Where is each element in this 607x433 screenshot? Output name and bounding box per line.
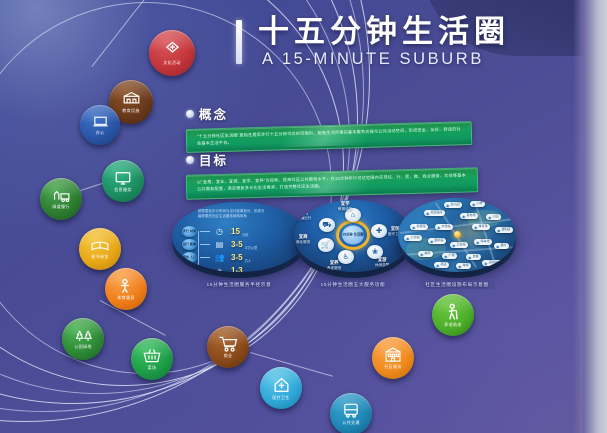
pin-label: 幼儿园 [451, 203, 460, 207]
tree-unit: 万人 [245, 258, 251, 263]
pin-label: 球场 [463, 264, 469, 268]
wall-edge-shadow [573, 0, 583, 433]
list-item[interactable]: ◉便利店 [495, 227, 513, 233]
disc-map-wrap: ◉幼儿园 ◉小学 ◉社区医院 ◉菜市场 ◉公园 ◉养老院 ◉文化站 ◉体育场 ◉… [398, 198, 516, 272]
list-item[interactable]: ◉体育场 [472, 224, 490, 230]
disc-hub[interactable]: 15分钟 生活圈 ⌂ ✚ ❀ ♿ 🛒 ⛟ 宜学 教育设施 宜医 医疗卫生 宜游 … [294, 200, 412, 272]
clock-icon: ◷ [213, 226, 226, 237]
tree-node-label: 用地 规模 [182, 265, 197, 272]
hub-label-2-sub: 休闲游憩 [375, 263, 389, 267]
panel-concept: 概念 "十五分钟社区生活圈"是指在居民步行十五分钟可达的范围内，配备生活所需的基… [186, 104, 476, 149]
bullet-dot-icon [186, 156, 194, 164]
tree-connector [200, 270, 210, 271]
badge-community[interactable]: 社区服务 [372, 337, 414, 379]
badge-elderly[interactable]: 养老助老 [432, 294, 474, 336]
list-item[interactable]: ◉社区医院 [424, 210, 445, 216]
pin-label: 公园 [493, 215, 499, 219]
monitor-icon [114, 170, 132, 186]
pin-glyph-icon: ◉ [412, 225, 416, 230]
tree-value: 15 [231, 228, 240, 236]
pin-label: 社区医院 [431, 211, 443, 215]
hub-label-0: 宜学 教育设施 [338, 201, 352, 212]
tree-icon [73, 328, 94, 343]
list-item[interactable]: ◉卫生站 [450, 242, 468, 248]
disc-hub-caption: 15分钟生活圈五大服务功能 [315, 280, 392, 289]
health-icon [272, 376, 291, 394]
tree-node-label: 服务 人口 [182, 252, 197, 263]
bullet-dot-icon [186, 110, 194, 118]
pin-label: 活动中心 [489, 261, 501, 265]
pin-glyph-icon: ◉ [437, 225, 441, 230]
badge-health-label: 医疗卫生 [272, 395, 290, 401]
basket-icon [142, 347, 162, 364]
fitness-icon [117, 277, 136, 294]
hub-center-label: 15分钟 生活圈 [342, 225, 364, 244]
tree-connector [200, 231, 210, 232]
elderly-icon [445, 303, 461, 321]
panel-concept-header: 概念 [186, 104, 476, 123]
pin-glyph-icon: ◉ [444, 254, 448, 259]
badge-office-label: 办公 [96, 130, 105, 136]
pin-label: 银行 [501, 244, 507, 248]
badge-office[interactable]: 办公 [80, 105, 120, 145]
pin-glyph-icon: ◉ [452, 243, 456, 248]
page-title-en: A 15-MINUTE SUBURB [262, 50, 506, 69]
tree-node-label: 步行 时间 [182, 226, 197, 237]
tree-connector [200, 257, 210, 258]
medical-icon[interactable]: ✚ [371, 224, 387, 238]
badge-education-label: 教育设施 [122, 108, 140, 114]
badge-park[interactable]: 公园绿地 [62, 318, 104, 360]
list-item[interactable]: ◉幼儿园 [444, 202, 462, 208]
people-icon: 👥 [213, 252, 226, 263]
tree-node-label: 出行 距离 [182, 239, 197, 250]
badge-health[interactable]: 医疗卫生 [260, 367, 302, 409]
tree-value: 3-5 [231, 241, 243, 249]
badge-transit[interactable]: 公共交通 [330, 393, 372, 433]
panel-goal-header: 目标 [186, 150, 481, 169]
badge-community-label: 社区服务 [384, 364, 402, 370]
pin-glyph-icon: ◉ [458, 264, 462, 269]
page-title-cn: 十五分钟生活圈 [258, 16, 506, 49]
list-item[interactable]: ◉药店 [434, 262, 449, 268]
pin-label: 便利店 [502, 228, 511, 232]
panel-concept-label: 概念 [199, 104, 228, 123]
badge-commerce[interactable]: 商业 [207, 326, 249, 368]
panel-goal-bar: 以"宜居、宜业、宜游、宜学、宜养"为目标，提高社区公共服务水平，在15分钟步行可… [186, 167, 479, 200]
badge-elderly-label: 养老助老 [444, 322, 462, 328]
pin-glyph-icon: ◉ [430, 239, 434, 244]
hub-label-5: 宜行 交通出行 [297, 210, 311, 221]
pin-glyph-icon: ◉ [474, 225, 478, 230]
pin-label: 卫生站 [457, 243, 466, 247]
list-item[interactable]: ◉活动中心 [482, 260, 503, 266]
disc-hub-wrap: 15分钟 生活圈 ⌂ ✚ ❀ ♿ 🛒 ⛟ 宜学 教育设施 宜医 医疗卫生 宜游 … [294, 200, 412, 272]
list-item[interactable]: ◉银行 [494, 243, 509, 249]
pin-label: 广场 [449, 254, 455, 258]
tree-unit: 公里步行半径 [245, 271, 264, 272]
bus-icon [342, 402, 360, 419]
pin-glyph-icon: ◉ [488, 215, 492, 220]
badge-transit-label: 公共交通 [342, 420, 360, 426]
list-item[interactable]: ◉邮局 [418, 251, 433, 257]
transit-icon[interactable]: ⛟ [319, 218, 335, 232]
list-item[interactable]: ◉球场 [456, 263, 471, 269]
tree-unit: 平方公里 [245, 245, 258, 250]
disc-tree[interactable]: 按照居民步行时间与出行距离划分，形成分级配置的社区生活服务网络体系 步行 时间 … [172, 202, 306, 272]
badge-library-label: 图书阅览 [91, 254, 109, 260]
badge-culture-label: 文化活动 [163, 60, 181, 66]
pin-glyph-icon: ◉ [426, 211, 430, 216]
badge-market[interactable]: 菜场 [131, 338, 173, 380]
lantern-icon [163, 40, 182, 59]
tree-spine [198, 231, 199, 272]
list-item[interactable]: ◉文化站 [435, 224, 453, 230]
disc-map[interactable]: ◉幼儿园 ◉小学 ◉社区医院 ◉菜市场 ◉公园 ◉养老院 ◉文化站 ◉体育场 ◉… [398, 198, 516, 272]
list-item[interactable]: ◉小学 [470, 201, 485, 207]
pin-label: 停车场 [481, 240, 490, 244]
pin-glyph-icon: ◉ [484, 261, 488, 266]
tree-value: 1-3 [231, 267, 243, 273]
disc-tree-caption: 15分钟生活圈服务半径示意 [201, 280, 278, 289]
badge-library[interactable]: 图书阅览 [79, 228, 121, 270]
badge-media[interactable]: 信息服务 [102, 160, 144, 202]
pin-glyph-icon: ◉ [420, 252, 424, 257]
hub-label-3: 宜养 养老服务 [327, 260, 341, 271]
list-item[interactable]: ◉养老院 [410, 224, 428, 230]
pin-label: 食堂 [473, 255, 479, 259]
tree-connector [200, 244, 210, 245]
pin-glyph-icon: ◉ [496, 244, 500, 249]
pin-label: 养老院 [417, 225, 426, 229]
pin-glyph-icon: ◉ [497, 228, 501, 233]
pin-glyph-icon: ◉ [476, 240, 480, 245]
grid-icon: ▤ [213, 239, 226, 250]
pin-label: 邮局 [425, 252, 431, 256]
badge-greenway[interactable]: 绿道慢行 [40, 178, 82, 220]
list-item[interactable]: ◉公交站 [404, 235, 422, 241]
hub-label-0-sub: 教育设施 [338, 207, 352, 211]
wall-right-edge [583, 0, 607, 433]
badge-sports[interactable]: 体育健身 [105, 268, 147, 310]
pin-label: 菜市场 [467, 214, 476, 218]
badge-sports-label: 体育健身 [117, 295, 135, 301]
laptop-icon [92, 114, 109, 129]
hub-label-4: 宜商 商业服务 [296, 234, 310, 245]
disc-map-caption: 社区生活圈设施布局示意图 [419, 280, 495, 289]
map-center-marker [454, 231, 461, 238]
disc-tree-heading: 按照居民步行时间与出行距离划分，形成分级配置的社区生活服务网络体系 [198, 209, 266, 219]
pin-label: 图书馆 [435, 239, 444, 243]
list-item[interactable]: ◉图书馆 [428, 238, 446, 244]
badge-media-label: 信息服务 [114, 187, 132, 193]
pin-label: 公交站 [411, 236, 420, 240]
hub-label-4-sub: 商业服务 [296, 240, 310, 244]
badge-culture[interactable]: 文化活动 [149, 30, 195, 76]
pin-glyph-icon: ◉ [446, 203, 450, 208]
pin-glyph-icon: ◉ [468, 255, 472, 260]
book-icon [90, 239, 110, 253]
list-item[interactable]: ◉广场 [442, 253, 457, 259]
badge-greenway-label: 绿道慢行 [52, 204, 70, 210]
badge-commerce-label: 商业 [224, 353, 233, 359]
list-item[interactable]: ◉停车场 [474, 239, 492, 245]
title-block: 十五分钟生活圈 A 15-MINUTE SUBURB [236, 16, 506, 69]
pin-label: 药店 [441, 263, 447, 267]
pin-icon: ⌖ [213, 265, 226, 272]
hub-label-2: 宜游 休闲游憩 [375, 257, 389, 268]
panel-goal-label: 目标 [199, 150, 228, 169]
pin-glyph-icon: ◉ [462, 214, 466, 219]
title-accent-bar [236, 20, 242, 64]
exhibition-wall-photo: 十五分钟生活圈 A 15-MINUTE SUBURB 概念 "十五分钟社区生活圈… [0, 0, 607, 433]
panel-concept-text: "十五分钟社区生活圈"是指在居民步行十五分钟可达的范围内，配备生活所需的基本服务… [197, 126, 463, 147]
cart-icon [218, 335, 238, 352]
school-icon [122, 90, 141, 107]
building-icon [383, 347, 403, 363]
panel-goal-text: 以"宜居、宜业、宜游、宜学、宜养"为目标，提高社区公共服务水平，在15分钟步行可… [197, 172, 469, 193]
disc-tree-wrap: 按照居民步行时间与出行距离划分，形成分级配置的社区生活服务网络体系 步行 时间 … [172, 202, 306, 272]
tree-unit: 分钟 [242, 232, 248, 237]
hub-label-3-sub: 养老服务 [327, 266, 341, 270]
disc-tree-rows: 步行 时间 ◷ 15 分钟 出行 距离 ▤ 3-5 平方公里 服务 人口 👥 [182, 225, 294, 272]
shopping-icon[interactable]: 🛒 [318, 238, 334, 252]
pin-label: 文化站 [442, 225, 451, 229]
pin-glyph-icon: ◉ [406, 236, 410, 241]
panel-concept-bar: "十五分钟社区生活圈"是指在居民步行十五分钟可达的范围内，配备生活所需的基本服务… [186, 121, 473, 153]
panel-goal: 目标 以"宜居、宜业、宜游、宜学、宜养"为目标，提高社区公共服务水平，在15分钟… [186, 150, 481, 196]
pin-label: 小学 [477, 202, 483, 206]
pin-label: 体育场 [479, 225, 488, 229]
list-item[interactable]: ◉公园 [486, 214, 501, 220]
pin-glyph-icon: ◉ [436, 263, 440, 268]
badge-market-label: 菜场 [148, 365, 157, 371]
badge-park-label: 公园绿地 [74, 344, 92, 350]
list-item[interactable]: ◉菜市场 [460, 213, 478, 219]
tree-value: 3-5 [231, 254, 243, 262]
pin-glyph-icon: ◉ [472, 202, 476, 207]
greenway-icon [51, 189, 71, 203]
hub-label-5-sub: 交通出行 [297, 216, 311, 220]
list-item[interactable]: ◉食堂 [466, 254, 481, 260]
